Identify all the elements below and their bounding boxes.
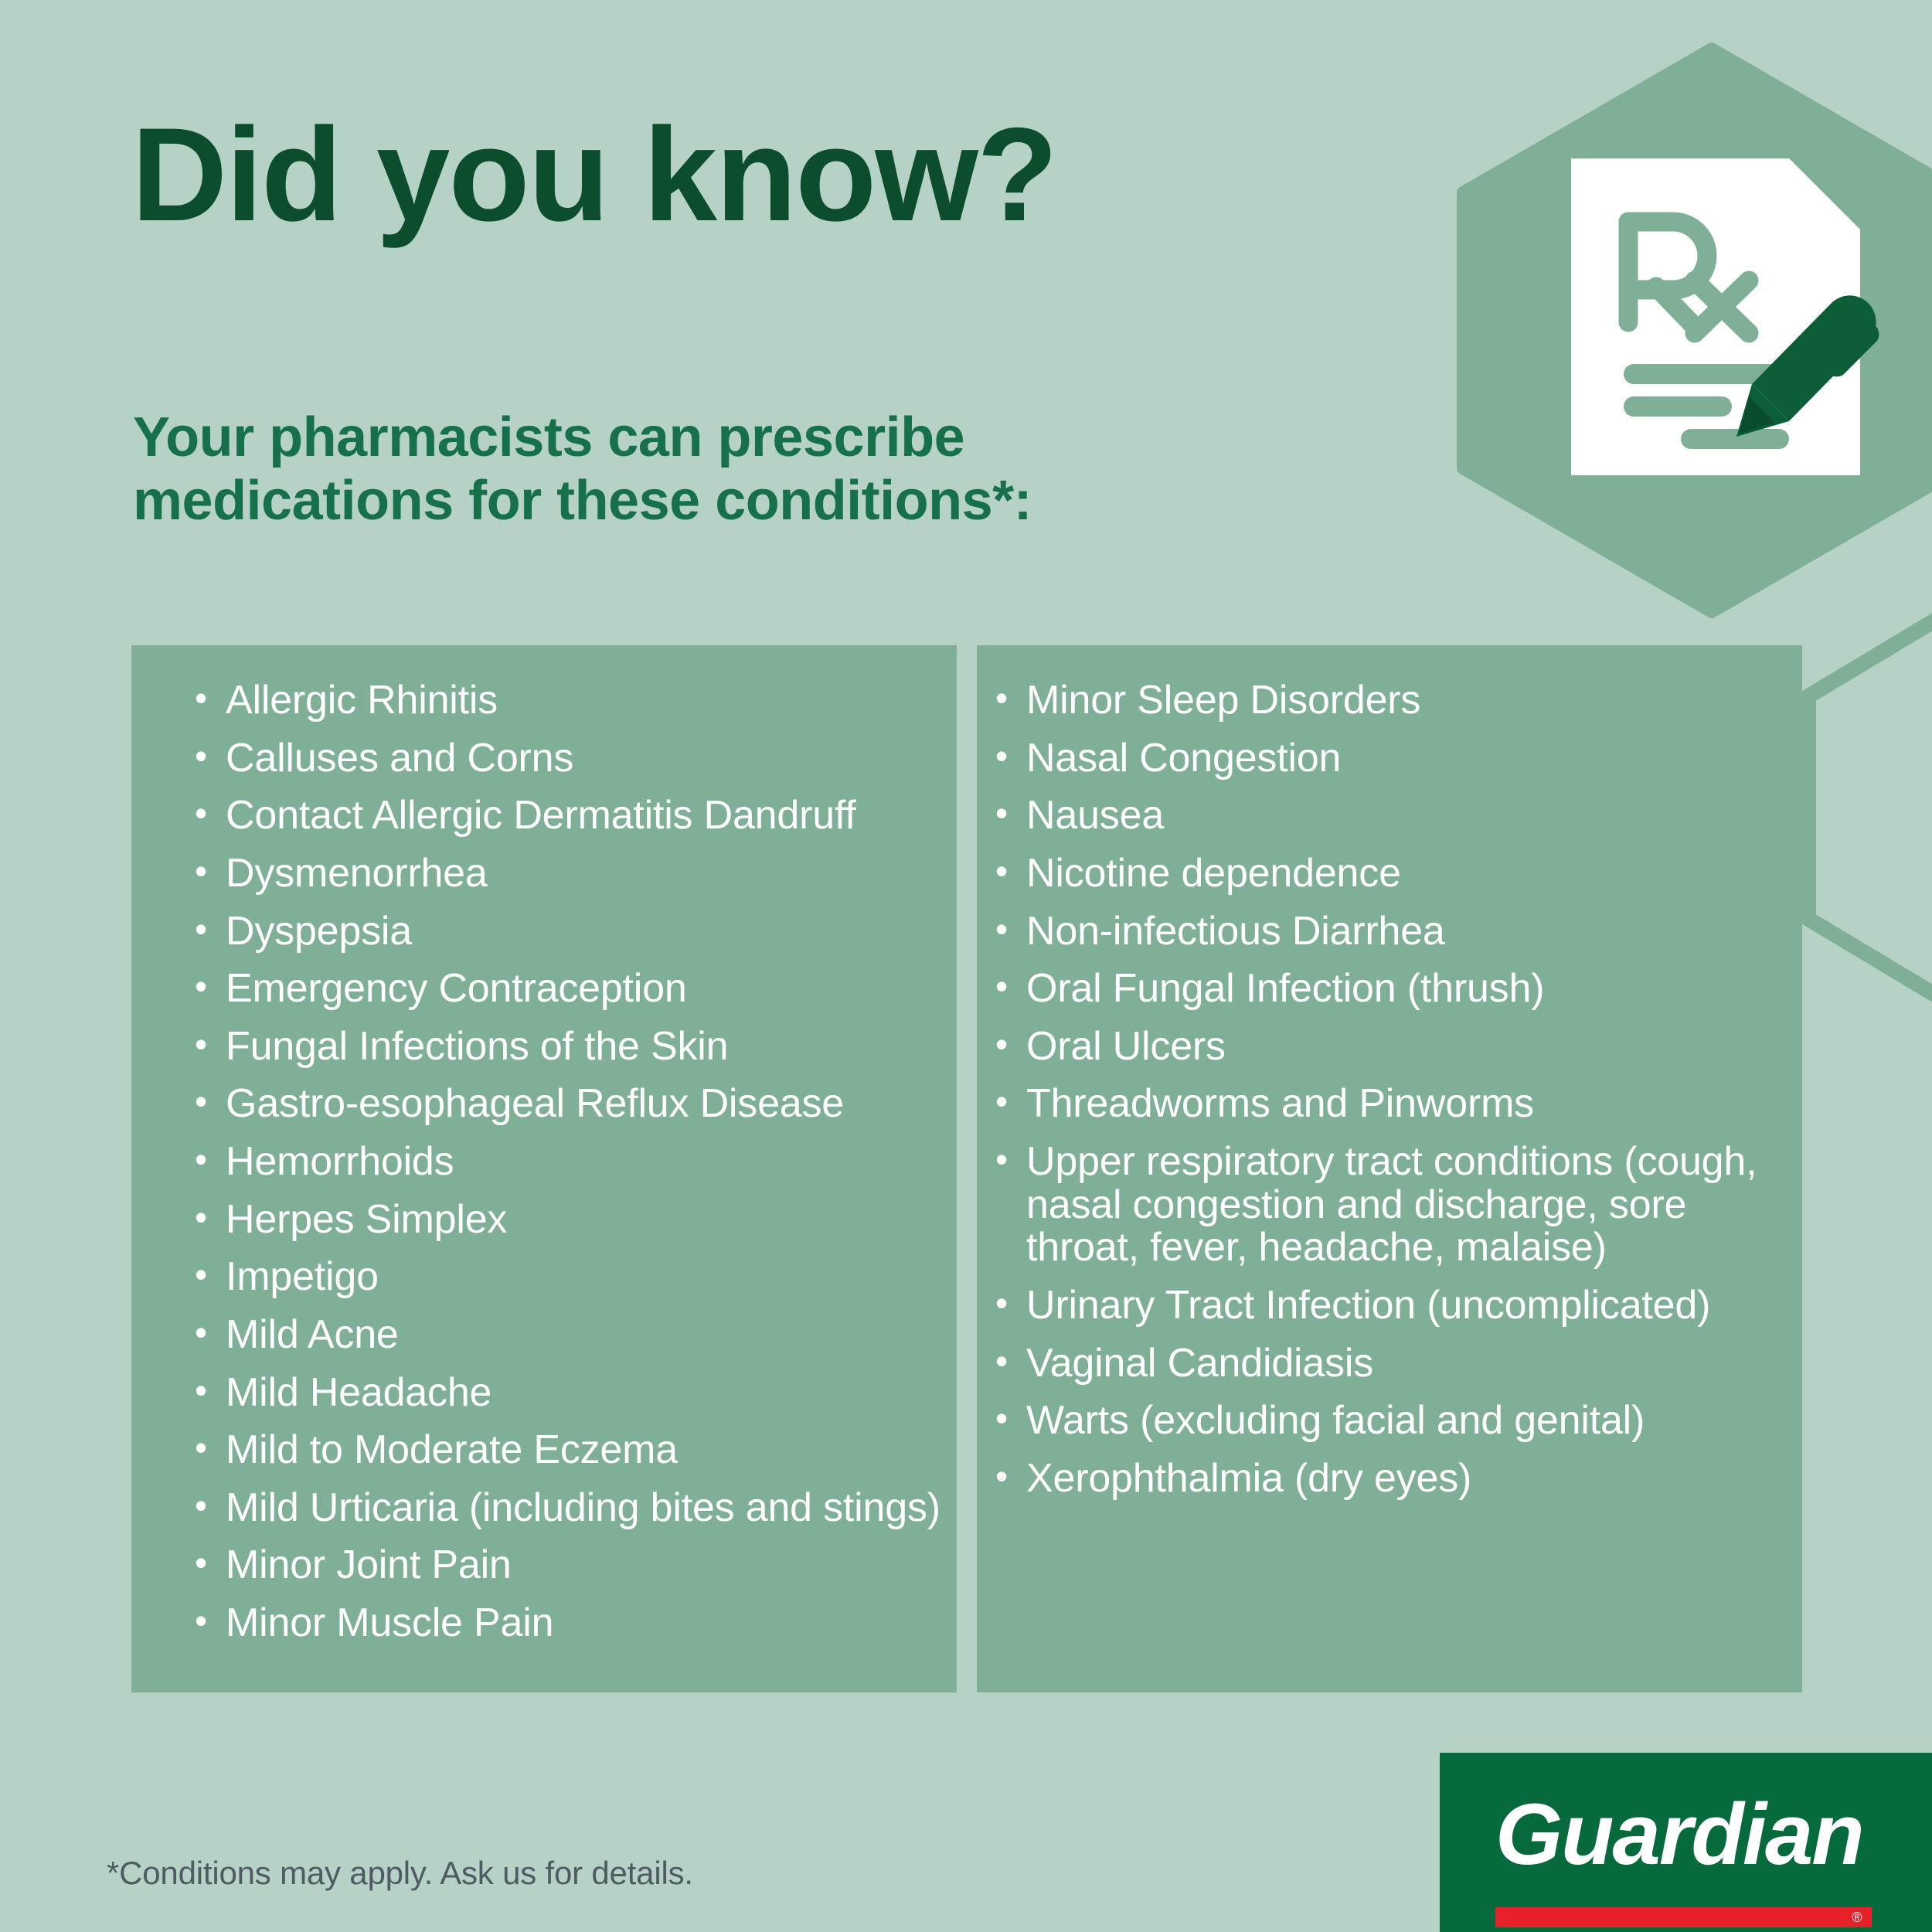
condition-list-item: Non-infectious Diarrhea: [994, 910, 1787, 954]
condition-list-item: Urinary Tract Infection (uncomplicated): [994, 1284, 1787, 1328]
logo-red-rule: [1495, 1907, 1872, 1927]
conditions-list-right: Minor Sleep DisordersNasal CongestionNau…: [977, 645, 1802, 1500]
condition-list-item: Gastro-esophageal Reflux Disease: [193, 1083, 941, 1126]
page-title: Did you know?: [131, 108, 1056, 241]
condition-list-item: Minor Muscle Pain: [193, 1602, 941, 1645]
condition-list-item: Nausea: [994, 794, 1787, 838]
condition-list-item: Calluses and Corns: [193, 737, 941, 781]
conditions-list-left: Allergic RhinitisCalluses and CornsConta…: [131, 645, 957, 1645]
condition-list-item: Dyspepsia: [193, 910, 941, 954]
condition-list-item: Emergency Contraception: [193, 968, 941, 1011]
registered-trademark-icon: ®: [1847, 1907, 1867, 1927]
condition-list-item: Mild Urticaria (including bites and stin…: [193, 1487, 941, 1530]
infographic-poster: Did you know? Your pharmacists can presc…: [0, 0, 1932, 1932]
condition-list-item: Nicotine dependence: [994, 852, 1787, 896]
rx-prescription-document-with-pen-icon: [1557, 151, 1889, 483]
condition-list-item: Mild Acne: [193, 1314, 941, 1357]
condition-list-item: Mild Headache: [193, 1372, 941, 1415]
condition-list-item: Minor Sleep Disorders: [994, 679, 1787, 723]
condition-list-item: Xerophthalmia (dry eyes): [994, 1458, 1787, 1501]
condition-list-item: Allergic Rhinitis: [193, 679, 941, 723]
condition-list-item: Herpes Simplex: [193, 1199, 941, 1242]
condition-list-item: Impetigo: [193, 1256, 941, 1299]
condition-list-item: Mild to Moderate Eczema: [193, 1429, 941, 1472]
condition-list-item: Minor Joint Pain: [193, 1544, 941, 1587]
hexagon-outline-icon: [1793, 576, 1932, 1039]
guardian-logo: Guardian ®: [1440, 1753, 1932, 1932]
condition-list-item: Warts (excluding facial and genital): [994, 1400, 1787, 1443]
subtitle-line-2: medications for these conditions*:: [133, 469, 1277, 532]
condition-list-item: Oral Ulcers: [994, 1026, 1787, 1069]
condition-list-item: Contact Allergic Dermatitis Dandruff: [193, 794, 941, 838]
subtitle-line-1: Your pharmacists can prescribe: [133, 406, 1277, 469]
conditions-panel-left: Allergic RhinitisCalluses and CornsConta…: [131, 645, 957, 1692]
footnote: *Conditions may apply. Ask us for detail…: [107, 1855, 693, 1892]
subtitle: Your pharmacists can prescribe medicatio…: [133, 406, 1277, 532]
condition-list-item: Dysmenorrhea: [193, 852, 941, 896]
condition-list-item: Nasal Congestion: [994, 737, 1787, 781]
condition-list-item: Hemorrhoids: [193, 1141, 941, 1184]
condition-list-item: Oral Fungal Infection (thrush): [994, 968, 1787, 1011]
condition-list-item: Fungal Infections of the Skin: [193, 1026, 941, 1069]
condition-list-item: Vaginal Candidiasis: [994, 1342, 1787, 1386]
condition-list-item: Upper respiratory tract conditions (coug…: [994, 1141, 1787, 1270]
conditions-panel-right: Minor Sleep DisordersNasal CongestionNau…: [977, 645, 1802, 1692]
condition-list-item: Threadworms and Pinworms: [994, 1083, 1787, 1126]
guardian-wordmark: Guardian: [1495, 1791, 1863, 1878]
